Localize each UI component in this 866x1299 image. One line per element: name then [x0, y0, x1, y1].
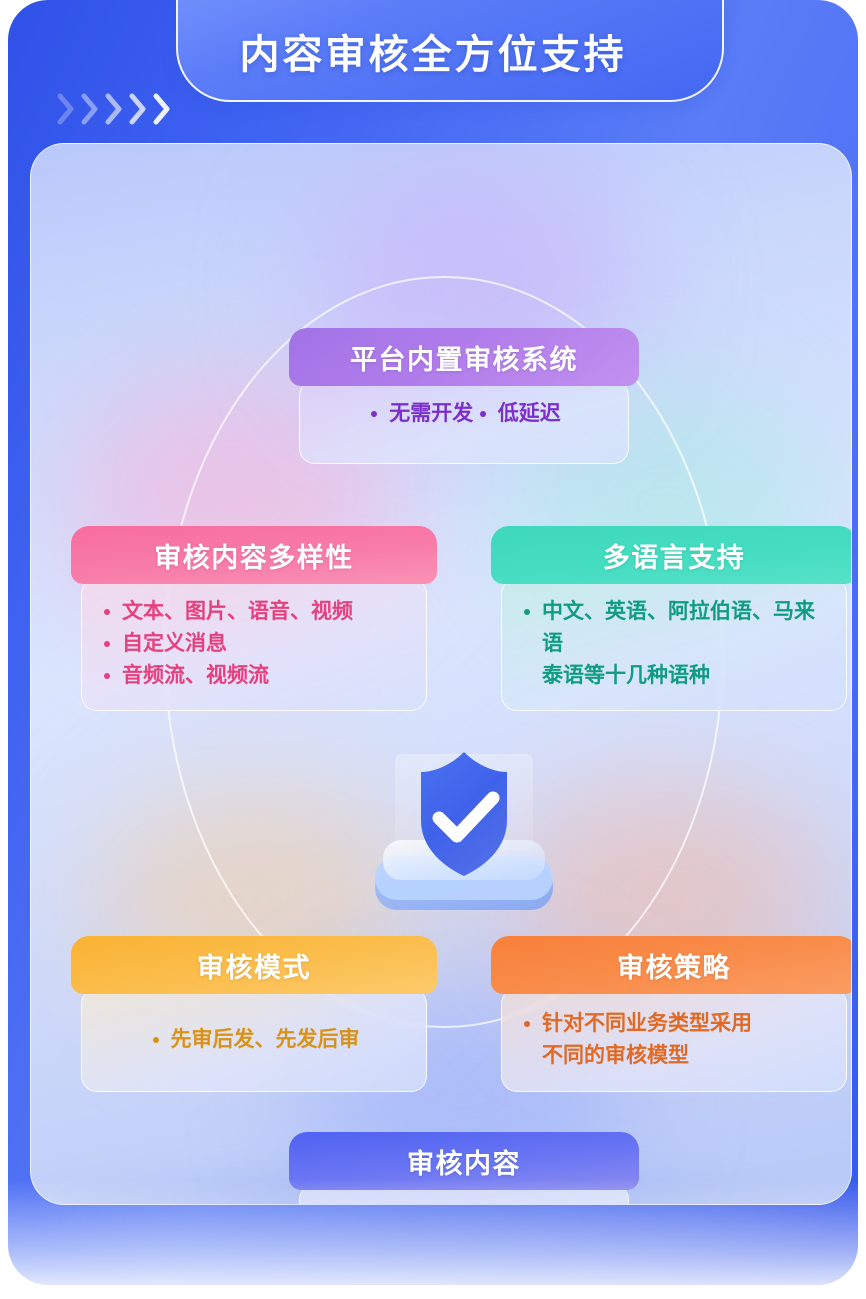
- list-item-line: 泰语等十几种语种: [542, 660, 828, 692]
- card-content-variety[interactable]: 审核内容多样性 文本、图片、语音、视频 自定义消息 音频流、视频流: [71, 526, 437, 711]
- card-title: 审核策略: [491, 936, 852, 994]
- list-item: 音频流、视频流: [102, 660, 408, 692]
- bullet-list: 中文、英语、阿拉伯语、马来语 泰语等十几种语种: [522, 596, 828, 692]
- card-review-policy[interactable]: 审核策略 针对不同业务类型采用 不同的审核模型: [491, 936, 852, 1092]
- card-title: 审核模式: [71, 936, 437, 994]
- card-body: 文本、图片、语音、视频 自定义消息 音频流、视频流: [81, 578, 427, 711]
- infographic-root: 平台内置审核系统 无需开发 低延迟 审核内容多样性 文本、图片、语音、视频 自定…: [0, 0, 866, 1299]
- list-item-line: 针对不同业务类型采用: [542, 1008, 828, 1040]
- outer-shell: 平台内置审核系统 无需开发 低延迟 审核内容多样性 文本、图片、语音、视频 自定…: [8, 0, 858, 1285]
- card-title: 多语言支持: [491, 526, 852, 584]
- card-title: 平台内置审核系统: [289, 328, 639, 386]
- bullet-list: 先审后发、先发后审: [102, 1024, 408, 1056]
- list-item-line: 中文、英语、阿拉伯语、马来语: [542, 596, 828, 660]
- card-multi-language-support[interactable]: 多语言支持 中文、英语、阿拉伯语、马来语 泰语等十几种语种: [491, 526, 852, 711]
- bullet-list: 无需开发 低延迟: [320, 398, 610, 430]
- card-platform-builtin-system[interactable]: 平台内置审核系统 无需开发 低延迟: [289, 328, 639, 464]
- card-review-mode[interactable]: 审核模式 先审后发、先发后审: [71, 936, 437, 1092]
- card-review-content[interactable]: 审核内容 涉政 色情 暴恐 违禁 仇恨 辱骂 广告 交易 未成年保护 自定义: [289, 1132, 639, 1205]
- card-body: 针对不同业务类型采用 不同的审核模型: [501, 988, 847, 1092]
- list-item: 低延迟: [478, 398, 561, 430]
- bullet-list: 文本、图片、语音、视频 自定义消息 音频流、视频流: [102, 596, 408, 692]
- card-body: 先审后发、先发后审: [81, 988, 427, 1092]
- list-item-line: 不同的审核模型: [542, 1040, 828, 1072]
- shield-check-icon: [361, 736, 567, 926]
- card-title: 审核内容: [289, 1132, 639, 1190]
- list-item: 文本、图片、语音、视频: [102, 596, 408, 628]
- list-item: 先审后发、先发后审: [151, 1024, 360, 1056]
- content-panel: 平台内置审核系统 无需开发 低延迟 审核内容多样性 文本、图片、语音、视频 自定…: [30, 143, 852, 1205]
- list-item: 针对不同业务类型采用 不同的审核模型: [522, 1008, 828, 1072]
- bullet-list: 针对不同业务类型采用 不同的审核模型: [522, 1008, 828, 1072]
- page-title: 内容审核全方位支持: [0, 0, 866, 102]
- card-title: 审核内容多样性: [71, 526, 437, 584]
- card-body: 无需开发 低延迟: [299, 380, 629, 464]
- list-item: 自定义消息: [102, 628, 408, 660]
- card-body: 中文、英语、阿拉伯语、马来语 泰语等十几种语种: [501, 578, 847, 711]
- list-item: 中文、英语、阿拉伯语、马来语 泰语等十几种语种: [522, 596, 828, 692]
- list-item: 无需开发: [369, 398, 473, 430]
